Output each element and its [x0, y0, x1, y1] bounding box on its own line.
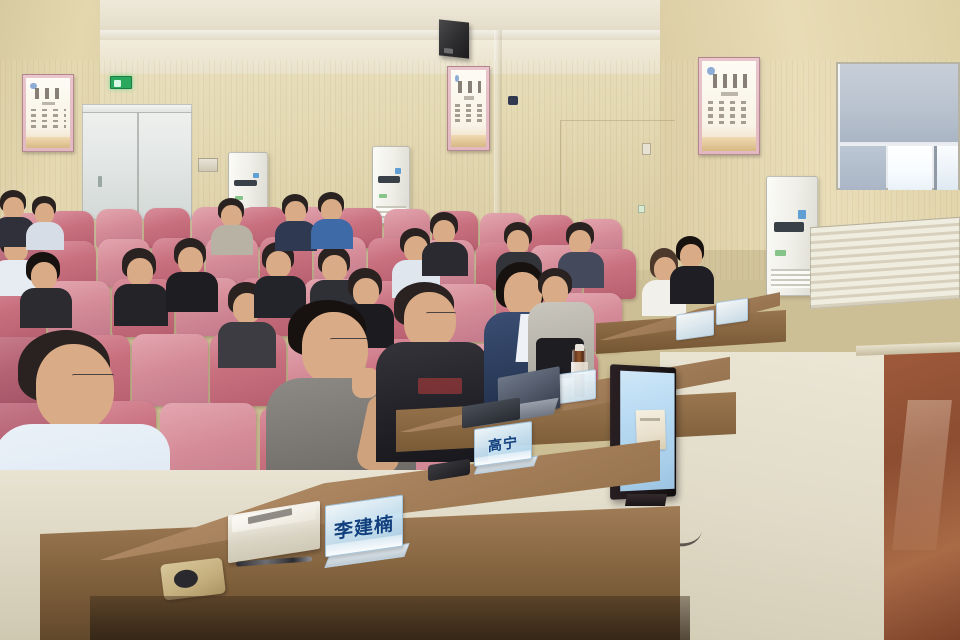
poster-footer-graphic	[702, 137, 756, 151]
monitor-document-text-line	[640, 418, 660, 421]
wall-radiator-grille	[810, 217, 960, 309]
poster-footer-graphic	[451, 135, 486, 147]
ac-display-panel	[378, 176, 400, 183]
nameplate-middle: 高宁	[474, 421, 532, 467]
nameplate-blank	[716, 298, 748, 325]
poster-body-rows	[708, 101, 750, 135]
poster-title-text	[458, 81, 481, 93]
window-mullion	[934, 146, 937, 190]
framed-notice-poster-left	[22, 74, 74, 152]
framed-notice-poster-middle	[447, 66, 490, 151]
framed-notice-poster-right	[698, 57, 760, 155]
light-switch[interactable]	[642, 143, 651, 155]
bottle-cap	[575, 344, 584, 351]
ac-brand-badge	[253, 173, 259, 179]
wall-plaque	[198, 158, 218, 172]
window-blind-upper[interactable]	[840, 64, 958, 144]
ac-indicator-led	[775, 250, 786, 256]
nameplate-front: 李建楠	[325, 495, 403, 558]
poster-subtitle-text	[721, 92, 737, 97]
door-handle[interactable]	[98, 176, 102, 187]
ac-brand-badge	[395, 168, 401, 174]
ac-vent-grille	[771, 269, 813, 288]
auditorium-photo: 高宁 李建楠	[0, 0, 960, 640]
emergency-exit-sign-icon	[110, 76, 132, 89]
window-blind-lower[interactable]	[840, 146, 886, 190]
nameplate-middle-text: 高宁	[488, 432, 518, 456]
nameplate-blank	[676, 309, 714, 340]
poster-footer-graphic	[26, 137, 70, 148]
desk-shadow	[90, 596, 690, 640]
poster-body-rows	[31, 109, 65, 136]
nameplate-front-text: 李建楠	[334, 508, 394, 543]
poster-subtitle-text	[464, 96, 475, 100]
ac-display-panel	[234, 180, 257, 186]
poster-subtitle-text	[42, 102, 55, 106]
mobile-phone-gold[interactable]	[160, 557, 226, 600]
poster-title-text	[713, 74, 749, 88]
seat	[132, 334, 208, 406]
window-glass-right	[937, 146, 958, 190]
poster-title-text	[35, 88, 64, 99]
wall-sensor-icon	[508, 96, 518, 105]
poster-body-rows	[455, 104, 482, 133]
ac-brand-badge	[798, 210, 806, 219]
wall-speaker-icon	[439, 19, 469, 58]
window-glass	[888, 146, 932, 190]
ac-display-panel	[774, 222, 804, 233]
